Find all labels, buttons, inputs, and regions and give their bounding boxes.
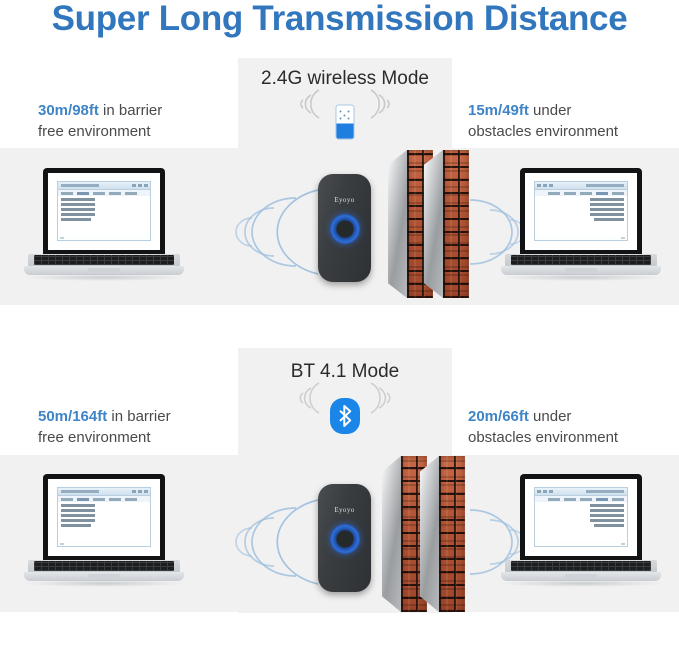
barcode-scanner-device-top: Eyoyo (318, 174, 371, 282)
condition-text-bottom-right-line2: obstacles environment (468, 429, 618, 446)
laptop-illustration-top-left (20, 168, 188, 288)
mode-label-wireless: 2.4G wireless Mode (238, 68, 452, 90)
laptop-shadow (499, 580, 663, 587)
wave-arc-right-icon (367, 380, 403, 416)
laptop-lid (43, 168, 165, 255)
bluetooth-glyph-icon (338, 405, 353, 427)
laptop-touchpad (565, 574, 597, 578)
condition-text-top-right-line1: under (533, 102, 571, 119)
distance-value-top-right: 15m/49ft (468, 102, 529, 119)
laptop-illustration-bottom-right (497, 474, 665, 594)
condition-text-top-right-line2: obstacles environment (468, 123, 618, 140)
scanner-brand-label: Eyoyo (318, 196, 371, 204)
scanner-led-ring (330, 524, 360, 554)
wall-side-face (420, 456, 439, 612)
scanner-data-window (534, 181, 628, 241)
wave-arc-left-icon (289, 86, 323, 122)
laptop-shadow (22, 274, 186, 281)
wall-brick-face (439, 456, 465, 612)
bluetooth-icon-group (238, 390, 452, 442)
scanner-data-window (57, 487, 151, 547)
distance-value-top-left: 30m/98ft (38, 102, 99, 119)
condition-text-bottom-right-line1: under (533, 408, 571, 425)
laptop-touchpad (88, 574, 120, 578)
laptop-shadow (499, 274, 663, 281)
brick-wall-obstacle-bottom-2 (420, 456, 465, 612)
laptop-touchpad (88, 268, 120, 272)
window-title-bar (58, 182, 150, 190)
distance-value-bottom-left: 50m/164ft (38, 408, 107, 425)
scanner-data-window (57, 181, 151, 241)
scanner-brand-label: Eyoyo (318, 506, 371, 514)
window-title-bar (535, 182, 627, 190)
usb-dongle-icon (336, 105, 355, 140)
laptop-lid (43, 474, 165, 561)
bluetooth-icon (330, 398, 360, 434)
condition-text-bottom-left-line1: in barrier (111, 408, 170, 425)
laptop-keyboard (511, 561, 651, 571)
caption-bottom-left: 50m/164ft in barrier free environment (38, 406, 253, 448)
laptop-shadow (22, 580, 186, 587)
laptop-screen (48, 479, 160, 556)
caption-top-left: 30m/98ft in barrier free environment (38, 100, 253, 142)
caption-top-right: 15m/49ft under obstacles environment (468, 100, 678, 142)
wall-side-face (424, 150, 443, 298)
window-content-area (535, 502, 627, 541)
laptop-lid (520, 168, 642, 255)
scanner-led-ring (330, 214, 360, 244)
page-title: Super Long Transmission Distance (0, 0, 679, 40)
dongle-dots-icon (340, 111, 351, 121)
condition-text-bottom-left-line2: free environment (38, 429, 151, 446)
laptop-illustration-top-right (497, 168, 665, 288)
wave-arc-left-icon (287, 380, 323, 416)
laptop-touchpad (565, 268, 597, 272)
laptop-keyboard (511, 255, 651, 265)
laptop-lid (520, 474, 642, 561)
laptop-screen (48, 173, 160, 250)
wall-side-face (388, 150, 407, 298)
laptop-keyboard (34, 255, 174, 265)
caption-bottom-right: 20m/66ft under obstacles environment (468, 406, 678, 448)
window-content-area (58, 196, 150, 235)
window-title-bar (535, 488, 627, 496)
usb-dongle-icon-group (238, 96, 452, 148)
window-title-bar (58, 488, 150, 496)
distance-value-bottom-right: 20m/66ft (468, 408, 529, 425)
wall-side-face (382, 456, 401, 612)
barcode-scanner-device-bottom: Eyoyo (318, 484, 371, 592)
mode-label-bluetooth: BT 4.1 Mode (238, 361, 452, 383)
laptop-keyboard (34, 561, 174, 571)
infographic-canvas: Super Long Transmission Distance 2.4G wi… (0, 0, 679, 647)
laptop-illustration-bottom-left (20, 474, 188, 594)
wall-brick-face (443, 150, 469, 298)
laptop-screen (525, 479, 637, 556)
wave-arc-right-icon (367, 86, 401, 122)
condition-text-top-left-line1: in barrier (103, 102, 162, 119)
condition-text-top-left-line2: free environment (38, 123, 151, 140)
window-content-area (535, 196, 627, 235)
scanner-data-window (534, 487, 628, 547)
brick-wall-obstacle-top-2 (424, 150, 469, 298)
window-content-area (58, 502, 150, 541)
laptop-screen (525, 173, 637, 250)
